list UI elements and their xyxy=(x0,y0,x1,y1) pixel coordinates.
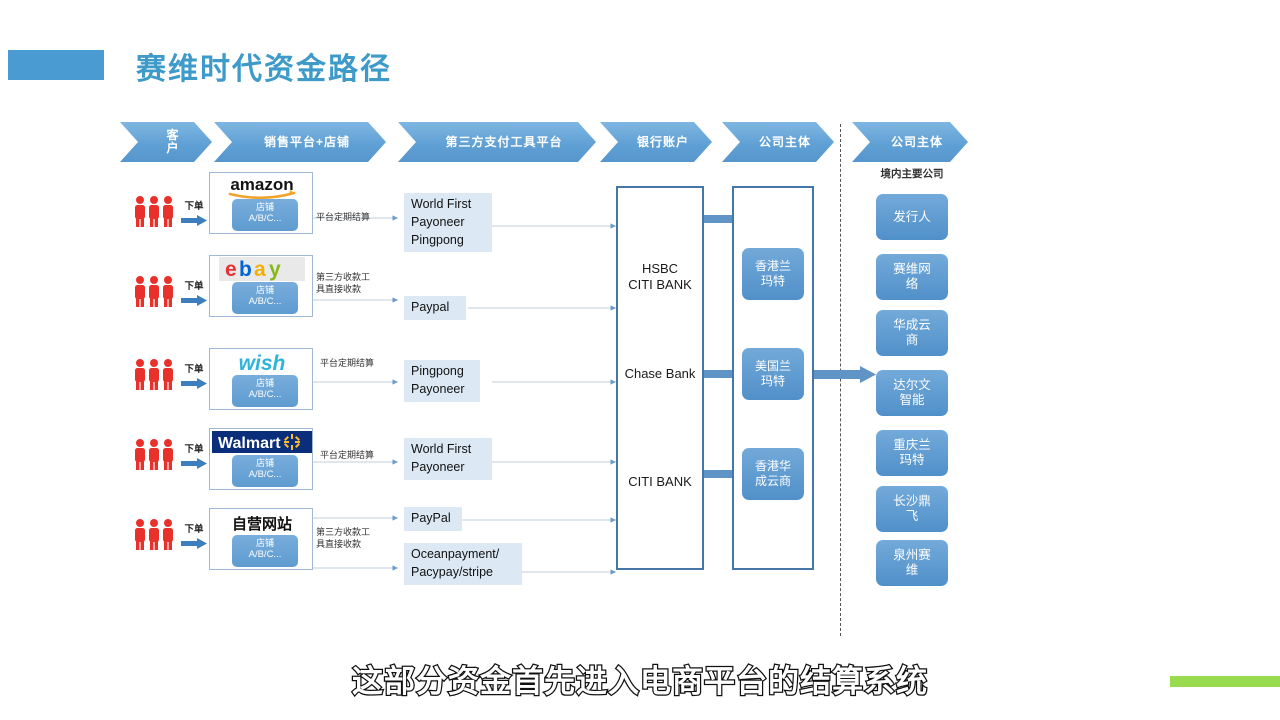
settlement-label-3: 平台定期结算 xyxy=(320,358,400,370)
stage-chevron-bank-account[interactable]: 银行账户 xyxy=(600,122,712,162)
people-icon xyxy=(132,437,176,471)
domestic-companies-header: 境内主要公司 xyxy=(864,166,960,181)
arrow-right-icon xyxy=(181,295,207,306)
domestic-company-chongqing[interactable]: 重庆兰 玛特 xyxy=(876,430,948,476)
shop-label: 店铺 xyxy=(256,458,274,468)
people-icon xyxy=(132,357,176,391)
order-action: 下单 xyxy=(176,435,212,479)
shop-label: 店铺 xyxy=(256,202,274,212)
onshore-offshore-divider xyxy=(840,124,841,636)
arrow-right-icon xyxy=(181,215,207,226)
shop-badge: 店铺 A/B/C... xyxy=(232,199,298,231)
order-action: 下单 xyxy=(176,272,212,316)
customer-group-3: 下单 xyxy=(132,355,210,403)
shop-label: 店铺 xyxy=(256,378,274,388)
stage-label: 银行账户 xyxy=(637,136,689,149)
stage-chevron-company-offshore[interactable]: 公司主体 xyxy=(722,122,834,162)
payment-tools-5b[interactable]: Oceanpayment/ Pacypay/stripe xyxy=(404,543,522,585)
platform-box-self-operated[interactable]: 自营网站 店铺 A/B/C... xyxy=(209,508,313,570)
settlement-label-4: 平台定期结算 xyxy=(320,450,400,462)
settlement-label-2: 第三方收款工 具直接收款 xyxy=(316,272,396,295)
stage-label: 销售平台+店铺 xyxy=(264,136,350,149)
platform-name: 自营网站 xyxy=(232,513,292,534)
svg-text:a: a xyxy=(254,258,266,281)
domestic-company-huacheng[interactable]: 华成云 商 xyxy=(876,310,948,356)
bank-label-citi: CITI BANK xyxy=(616,474,704,490)
ebay-logo: e b a y xyxy=(219,257,305,281)
shop-label: 店铺 xyxy=(256,538,274,548)
shop-badge: 店铺 A/B/C... xyxy=(232,535,298,567)
shop-label: 店铺 xyxy=(256,285,274,295)
domestic-company-issuer[interactable]: 发行人 xyxy=(876,194,948,240)
shop-codes: A/B/C... xyxy=(249,296,282,307)
svg-text:b: b xyxy=(239,258,252,281)
order-label: 下单 xyxy=(184,445,203,455)
order-action: 下单 xyxy=(176,515,212,559)
people-icon xyxy=(132,194,176,228)
domestic-company-quanzhou[interactable]: 泉州赛 维 xyxy=(876,540,948,586)
offshore-entity-hk-lanmate[interactable]: 香港兰 玛特 xyxy=(742,248,804,300)
offshore-entity-us-lanmate[interactable]: 美国兰 玛特 xyxy=(742,348,804,400)
stage-chevron-company-domestic[interactable]: 公司主体 xyxy=(852,122,968,162)
order-action: 下单 xyxy=(176,192,212,236)
domestic-company-changsha[interactable]: 长沙鼎 飞 xyxy=(876,486,948,532)
shop-badge: 店铺 A/B/C... xyxy=(232,375,298,407)
payment-tools-1[interactable]: World First Payoneer Pingpong xyxy=(404,193,492,252)
stage-chevron-sales-platform[interactable]: 销售平台+店铺 xyxy=(214,122,386,162)
arrow-right-icon xyxy=(181,378,207,389)
amazon-logo: amazon xyxy=(210,174,314,200)
customer-group-1: 下单 xyxy=(132,192,210,240)
platform-box-walmart[interactable]: Walmart 店铺 A/B/C... xyxy=(209,428,313,490)
customer-group-2: 下单 xyxy=(132,272,210,320)
platform-box-amazon[interactable]: amazon 店铺 A/B/C... xyxy=(209,172,313,234)
green-accent-bar xyxy=(1170,676,1280,687)
arrow-right-icon xyxy=(181,538,207,549)
payment-tools-5a[interactable]: PayPal xyxy=(404,507,462,531)
shop-codes: A/B/C... xyxy=(249,549,282,560)
payment-tools-4[interactable]: World First Payoneer xyxy=(404,438,492,480)
funds-path-diagram: 客 户 销售平台+店铺 第三方支付工具平台 银行账户 公司主体 公司主体 xyxy=(0,0,1280,660)
svg-text:Walmart: Walmart xyxy=(218,435,281,452)
stage-chevron-customer[interactable]: 客 户 xyxy=(120,122,212,162)
platform-box-wish[interactable]: wish 店铺 A/B/C... xyxy=(209,348,313,410)
people-icon xyxy=(132,517,176,551)
order-label: 下单 xyxy=(184,282,203,292)
customer-group-4: 下单 xyxy=(132,435,210,483)
order-label: 下单 xyxy=(184,202,203,212)
bank-label-hsbc-citi: HSBC CITI BANK xyxy=(616,261,704,294)
arrow-right-icon xyxy=(181,458,207,469)
payment-tools-2[interactable]: Paypal xyxy=(404,296,466,320)
domestic-company-saiwei-net[interactable]: 赛维网 络 xyxy=(876,254,948,300)
svg-text:y: y xyxy=(269,258,281,281)
svg-text:amazon: amazon xyxy=(230,175,293,194)
bank-label-chase: Chase Bank xyxy=(614,366,706,382)
stage-label: 第三方支付工具平台 xyxy=(445,136,562,149)
shop-badge: 店铺 A/B/C... xyxy=(232,282,298,314)
svg-text:wish: wish xyxy=(239,352,286,375)
customer-group-5: 下单 xyxy=(132,515,210,563)
shop-badge: 店铺 A/B/C... xyxy=(232,455,298,487)
order-action: 下单 xyxy=(176,355,212,399)
self-operated-site-text: 自营网站 xyxy=(210,510,314,536)
shop-codes: A/B/C... xyxy=(249,469,282,480)
stage-label: 客 户 xyxy=(166,129,179,154)
shop-codes: A/B/C... xyxy=(249,213,282,224)
settlement-label-5: 第三方收款工 具直接收款 xyxy=(316,527,396,550)
offshore-entity-hk-huacheng[interactable]: 香港华 成云商 xyxy=(742,448,804,500)
caption-subtitle: 这部分资金首先进入电商平台的结算系统 xyxy=(0,656,1280,701)
order-label: 下单 xyxy=(184,525,203,535)
stage-label: 公司主体 xyxy=(759,136,811,149)
platform-box-ebay[interactable]: e b a y 店铺 A/B/C... xyxy=(209,255,313,317)
order-label: 下单 xyxy=(184,365,203,375)
payment-tools-3[interactable]: Pingpong Payoneer xyxy=(404,360,480,402)
settlement-label-1: 平台定期结算 xyxy=(316,212,396,224)
people-icon xyxy=(132,274,176,308)
stage-label: 公司主体 xyxy=(891,136,943,149)
domestic-company-darwin[interactable]: 达尔文 智能 xyxy=(876,370,948,416)
shop-codes: A/B/C... xyxy=(249,389,282,400)
wish-logo: wish xyxy=(210,350,314,376)
stage-chevron-payment-platform[interactable]: 第三方支付工具平台 xyxy=(398,122,596,162)
walmart-logo: Walmart xyxy=(212,431,312,453)
svg-text:e: e xyxy=(225,258,237,281)
